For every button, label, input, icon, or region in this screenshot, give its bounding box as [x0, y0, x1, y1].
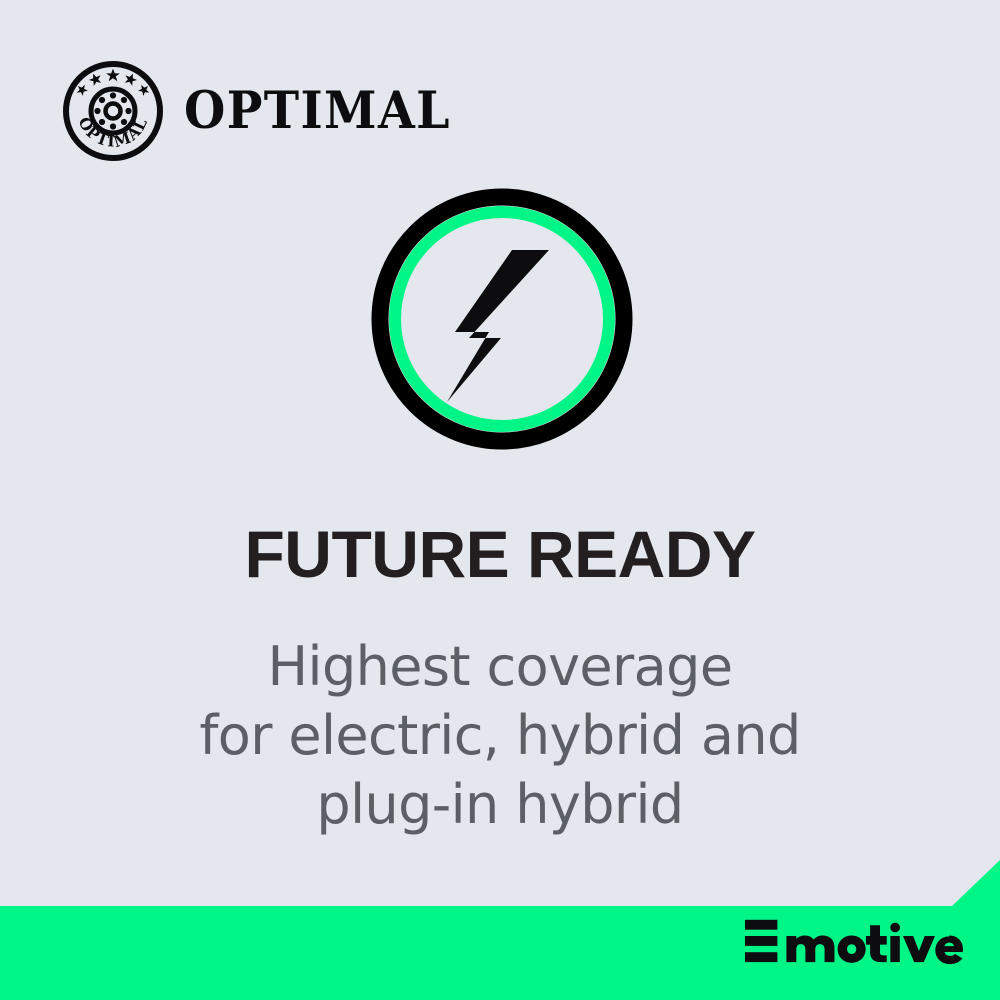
emotive-logo — [745, 918, 972, 972]
brand-header: OPTIMAL OPTIMAL — [62, 60, 471, 162]
subhead-line-3: plug-in hybrid — [0, 770, 1000, 839]
subhead-line-1: Highest coverage — [0, 632, 1000, 701]
footer-band — [0, 858, 1000, 1000]
poster-canvas: OPTIMAL OPTIMAL FUTURE READY Highest cov… — [0, 0, 1000, 1000]
optimal-badge-icon: OPTIMAL — [62, 60, 164, 162]
brand-wordmark: OPTIMAL — [184, 86, 451, 137]
hero-icon — [371, 180, 633, 458]
subhead-line-2: for electric, hybrid and — [0, 701, 1000, 770]
page-title: FUTURE READY — [0, 521, 1000, 587]
emotive-wordmark-icon — [745, 918, 972, 972]
subhead-block: Highest coverage for electric, hybrid an… — [0, 632, 1000, 839]
